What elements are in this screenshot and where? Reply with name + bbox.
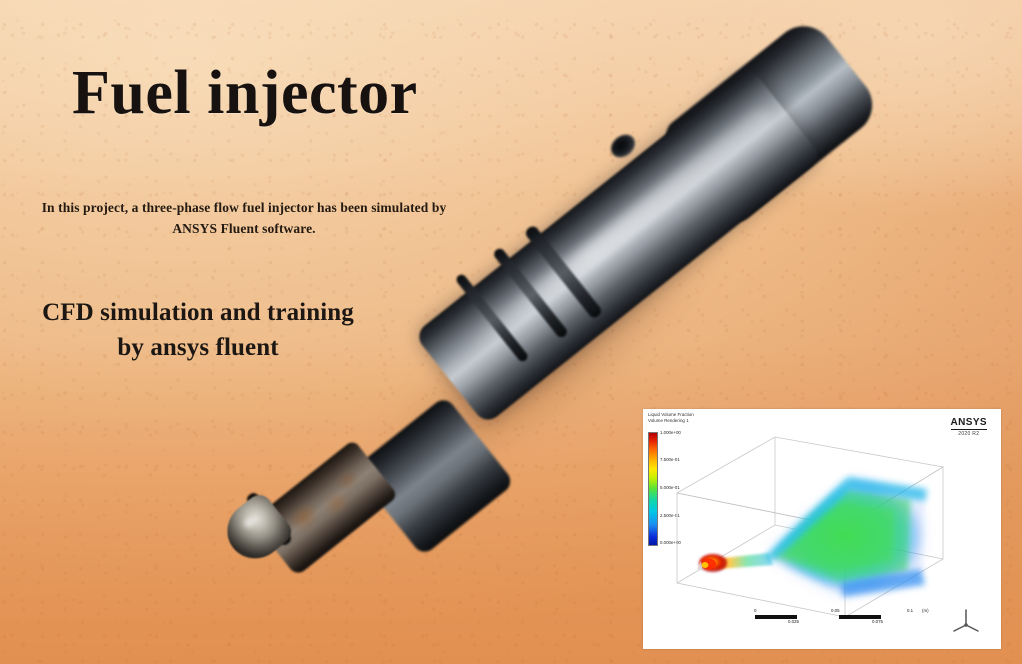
scale-bar: 0 0.025 0.05 0.075 0.1 (m) bbox=[755, 609, 925, 625]
cfd-result-panel: Liquid Volume Fraction Volume Rendering … bbox=[643, 409, 1001, 649]
slide-canvas: Fuel injector In this project, a three-p… bbox=[0, 0, 1022, 664]
scale-label-1: 0.025 bbox=[788, 619, 799, 624]
scale-label-2: 0.05 bbox=[831, 608, 840, 613]
tagline: CFD simulation and training by ansys flu… bbox=[22, 296, 374, 365]
scale-unit-label: (m) bbox=[922, 608, 929, 613]
tagline-line-2: by ansys fluent bbox=[22, 331, 374, 366]
project-description: In this project, a three-phase flow fuel… bbox=[28, 198, 460, 240]
page-title: Fuel injector bbox=[72, 62, 418, 124]
injector-nozzle-hotspot bbox=[697, 554, 727, 572]
tagline-line-1: CFD simulation and training bbox=[22, 296, 374, 331]
scale-label-4: 0.1 bbox=[907, 608, 913, 613]
axis-triad-icon bbox=[949, 603, 983, 637]
scale-label-3: 0.075 bbox=[872, 619, 883, 624]
scale-label-0: 0 bbox=[754, 608, 756, 613]
